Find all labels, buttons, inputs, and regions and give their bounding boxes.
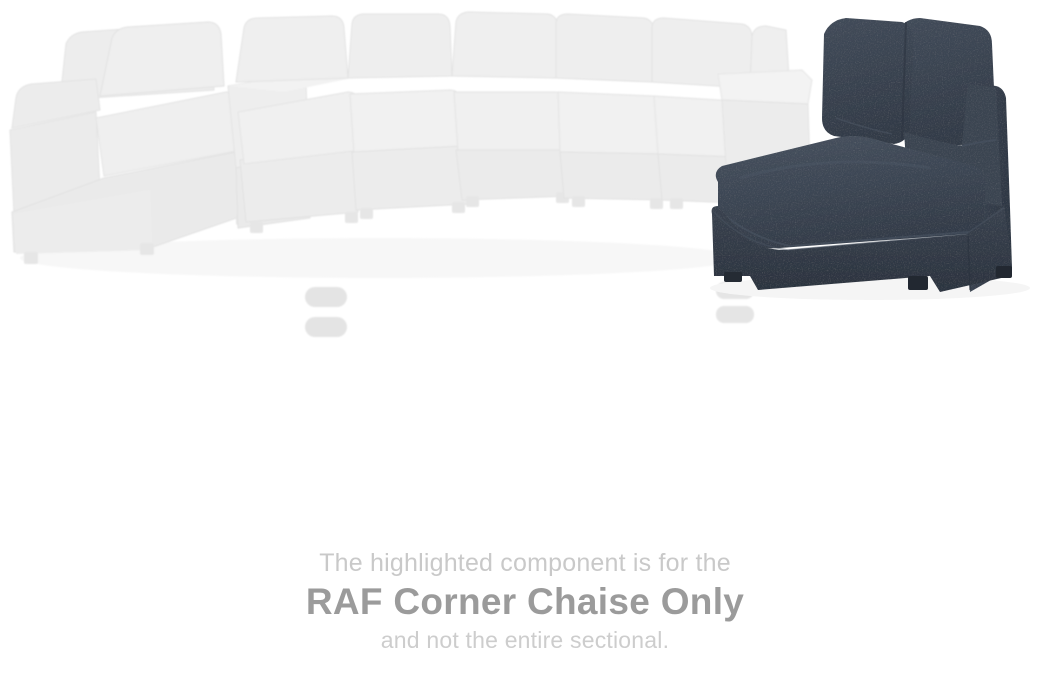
ghost-foot — [250, 222, 263, 233]
ghost-foot — [24, 252, 38, 264]
ghost-foot — [670, 198, 683, 209]
chaise-back-cushion-left — [822, 18, 914, 144]
ghost-armless-chair-1 — [236, 16, 362, 233]
caption-line-2-component-name: RAF Corner Chaise Only — [0, 578, 1050, 626]
chaise-foot-center — [908, 276, 928, 290]
ghost-armless-chair-3 — [556, 14, 666, 209]
ghost-corner-wedge — [452, 12, 570, 207]
ghosted-sectional-remainder — [10, 12, 812, 337]
ghost-foot — [452, 202, 465, 213]
chaise-foot-left — [724, 272, 742, 282]
ghost-cupholders — [305, 287, 347, 337]
ghost-cupholder — [298, 288, 299, 289]
ghost-foot — [466, 196, 479, 207]
caption-line-3: and not the entire sectional. — [0, 626, 1050, 654]
callout-caption: The highlighted component is for the RAF… — [0, 548, 1050, 654]
ghost-foot — [360, 208, 373, 219]
ghost-foot — [572, 196, 585, 207]
ghost-foot — [345, 212, 358, 223]
sectional-sofa-illustration — [0, 0, 1050, 520]
chaise-foot-right — [996, 266, 1012, 278]
caption-line-1: The highlighted component is for the — [0, 548, 1050, 578]
ghost-armless-chair-2 — [348, 14, 468, 219]
product-callout-image: The highlighted component is for the RAF… — [0, 0, 1050, 700]
ghost-foot — [650, 198, 663, 209]
ghost-foot — [140, 243, 154, 255]
ghost-laf-loveseat — [10, 22, 248, 264]
